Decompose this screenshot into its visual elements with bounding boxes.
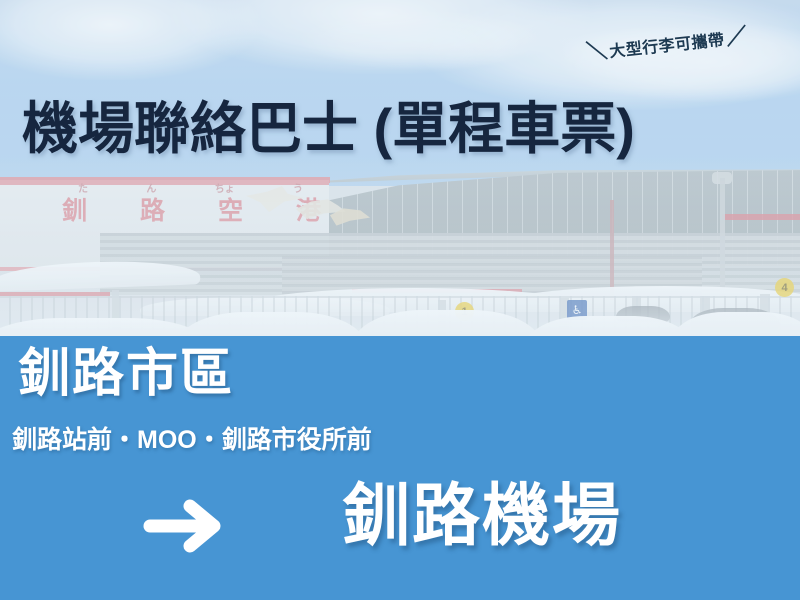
sign-char: 釧 bbox=[62, 191, 88, 227]
badge-left-slash-icon: ＼ bbox=[586, 40, 609, 63]
arrow-right-icon bbox=[140, 494, 232, 558]
red-awning-stripe bbox=[722, 214, 800, 220]
badge-right-slash-icon: ／ bbox=[726, 25, 749, 48]
airport-bus-ticket-banner: た ん ちょ う 釧 路 空 港 1 bbox=[0, 0, 800, 600]
route-origin-label: 釧路市區 bbox=[18, 348, 234, 400]
route-info-band: 釧路市區 釧路站前・MOO・釧路市役所前 bbox=[0, 336, 800, 600]
page-title: 機場聯絡巴士 (單程車票) bbox=[22, 101, 635, 157]
bus-bay-number-sign: 4 bbox=[775, 278, 794, 297]
sign-char: 路 bbox=[140, 191, 166, 227]
route-destination-label: 釧路機場 bbox=[342, 482, 622, 550]
route-origin-stops: 釧路站前・MOO・釧路市役所前 bbox=[12, 428, 372, 453]
flag-mast bbox=[610, 200, 614, 300]
sign-char: 空 bbox=[218, 191, 244, 227]
light-pole bbox=[720, 178, 725, 298]
